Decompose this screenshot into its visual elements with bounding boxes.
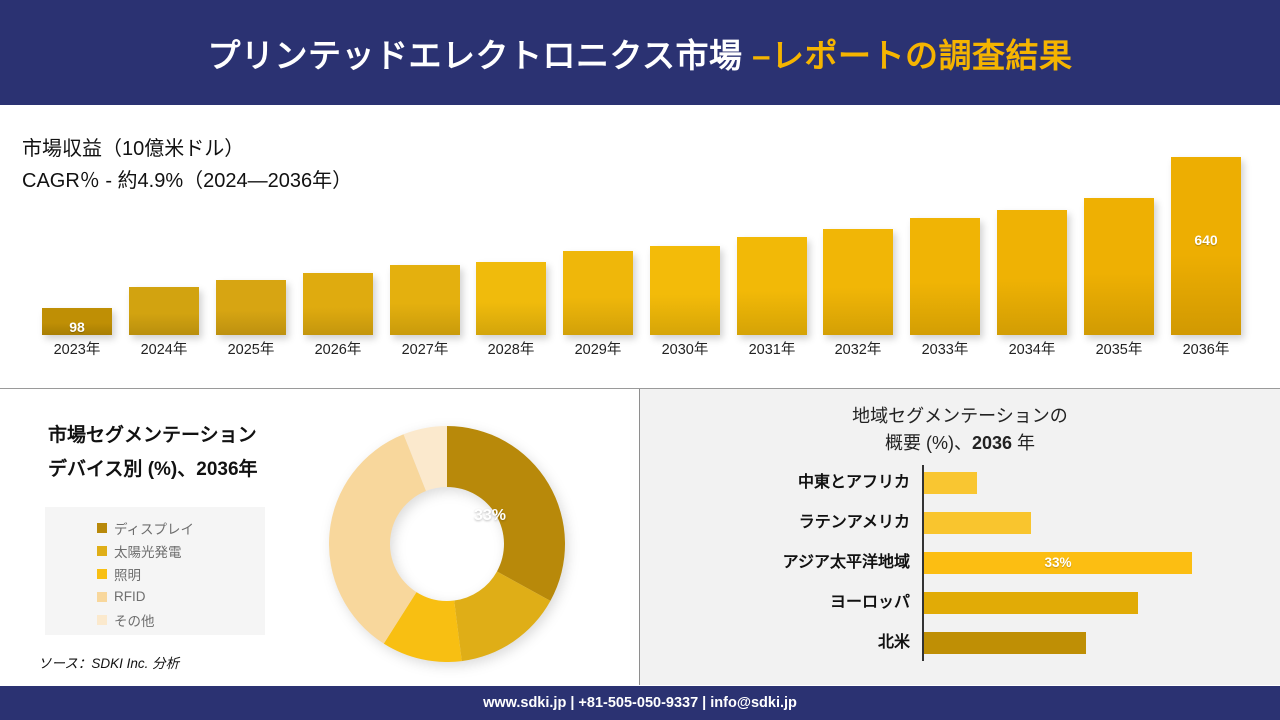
bar-column	[216, 130, 286, 335]
region-bar-row: 北米	[640, 632, 1280, 654]
region-title-prefix: 概要 (%)、	[885, 433, 972, 453]
legend-item[interactable]: RFID	[97, 585, 265, 608]
legend-item-label: 太陽光発電	[114, 541, 182, 561]
bar-column	[823, 130, 893, 335]
legend-item-label: ディスプレイ	[114, 518, 194, 538]
legend-swatch-icon	[97, 546, 107, 556]
bar-column: 98	[42, 130, 112, 335]
legend-swatch-icon	[97, 592, 107, 602]
region-bar[interactable]	[924, 472, 977, 494]
bar-column	[303, 130, 373, 335]
region-bar[interactable]	[924, 512, 1031, 534]
donut-chart-svg	[322, 419, 572, 669]
bar-chart-x-axis-labels: 2023年2024年2025年2026年2027年2028年2029年2030年…	[34, 338, 1249, 366]
legend-item[interactable]: 太陽光発電	[97, 539, 265, 562]
bar-column: 640	[1171, 130, 1241, 335]
x-axis-tick-label: 2035年	[1076, 338, 1162, 359]
revenue-bar	[1084, 198, 1154, 335]
revenue-bar	[650, 246, 720, 335]
donut-primary-value: 33%	[474, 507, 506, 525]
x-axis-tick-label: 2033年	[902, 338, 988, 359]
infographic-page: プリンテッドエレクトロニクス市場 –レポートの調査結果 市場収益（10億米ドル）…	[0, 0, 1280, 720]
x-axis-tick-label: 2026年	[295, 338, 381, 359]
x-axis-tick-label: 2030年	[642, 338, 728, 359]
region-title-suffix: 年	[1012, 433, 1035, 453]
segmentation-title-line1: 市場セグメンテーション	[48, 419, 258, 453]
segmentation-title-line2: デバイス別 (%)、2036年	[48, 453, 258, 487]
region-title: 地域セグメンテーションの 概要 (%)、2036 年	[640, 403, 1280, 457]
region-bar-row: 中東とアフリカ	[640, 472, 1280, 494]
bar-column	[390, 130, 460, 335]
bar-chart-plot-area: 98640	[34, 130, 1249, 335]
region-bar[interactable]	[924, 592, 1138, 614]
page-title: プリンテッドエレクトロニクス市場 –レポートの調査結果	[207, 29, 1072, 77]
legend-item-label: 照明	[114, 564, 141, 584]
revenue-bar	[129, 287, 199, 335]
x-axis-tick-label: 2025年	[208, 338, 294, 359]
market-revenue-bar-chart: 98640 2023年2024年2025年2026年2027年2028年2029…	[34, 130, 1249, 370]
x-axis-tick-label: 2029年	[555, 338, 641, 359]
page-title-main: プリンテッドエレクトロニクス市場	[207, 37, 742, 74]
x-axis-tick-label: 2027年	[382, 338, 468, 359]
region-label: ヨーロッパ	[670, 592, 910, 614]
region-label: アジア太平洋地域	[670, 552, 910, 574]
x-axis-tick-label: 2032年	[815, 338, 901, 359]
bar-column	[1084, 130, 1154, 335]
legend-item[interactable]: ディスプレイ	[97, 516, 265, 539]
bar-column	[129, 130, 199, 335]
legend-item[interactable]: その他	[97, 608, 265, 631]
device-segmentation-panel: 市場セグメンテーション デバイス別 (%)、2036年 ディスプレイ太陽光発電照…	[0, 389, 639, 685]
bar-value-label: 640	[1171, 232, 1241, 248]
revenue-bar	[737, 237, 807, 335]
revenue-bar	[303, 273, 373, 335]
x-axis-tick-label: 2034年	[989, 338, 1075, 359]
footer-contact-text: www.sdki.jp | +81-505-050-9337 | info@sd…	[483, 695, 797, 711]
x-axis-tick-label: 2024年	[121, 338, 207, 359]
revenue-bar	[216, 280, 286, 335]
region-title-line2: 概要 (%)、2036 年	[640, 430, 1280, 457]
donut-legend: ディスプレイ太陽光発電照明RFIDその他	[45, 507, 265, 635]
legend-swatch-icon	[97, 569, 107, 579]
region-label: 中東とアフリカ	[670, 472, 910, 494]
region-label: ラテンアメリカ	[670, 512, 910, 534]
legend-swatch-icon	[97, 523, 107, 533]
segmentation-title: 市場セグメンテーション デバイス別 (%)、2036年	[48, 419, 258, 487]
header-banner: プリンテッドエレクトロニクス市場 –レポートの調査結果	[0, 0, 1280, 105]
revenue-bar	[823, 229, 893, 335]
legend-item-label: その他	[114, 610, 155, 630]
region-bar-row: ラテンアメリカ	[640, 512, 1280, 534]
region-bar-row: アジア太平洋地域33%	[640, 552, 1280, 574]
source-note: ソース：SDKI Inc. 分析	[38, 652, 179, 672]
donut-chart: 33%	[322, 419, 572, 669]
bar-column	[650, 130, 720, 335]
revenue-bar	[997, 210, 1067, 335]
x-axis-tick-label: 2031年	[729, 338, 815, 359]
bar-column	[910, 130, 980, 335]
revenue-bar	[390, 265, 460, 335]
legend-item-label: RFID	[114, 589, 146, 604]
region-bar-value-label: 33%	[924, 552, 1192, 574]
bar-value-label: 98	[42, 319, 112, 335]
region-title-line1: 地域セグメンテーションの	[640, 403, 1280, 430]
revenue-bar	[910, 218, 980, 335]
revenue-bar	[563, 251, 633, 335]
page-title-accent: –レポートの調査結果	[752, 37, 1072, 74]
revenue-bar	[476, 262, 546, 335]
bar-column	[737, 130, 807, 335]
footer-banner: www.sdki.jp | +81-505-050-9337 | info@sd…	[0, 686, 1280, 720]
revenue-bar: 98	[42, 308, 112, 335]
x-axis-tick-label: 2028年	[468, 338, 554, 359]
region-bar[interactable]	[924, 632, 1086, 654]
region-label: 北米	[670, 632, 910, 654]
bar-column	[563, 130, 633, 335]
bar-column	[476, 130, 546, 335]
bar-column	[997, 130, 1067, 335]
x-axis-tick-label: 2023年	[34, 338, 120, 359]
region-title-year: 2036	[972, 433, 1012, 453]
legend-item[interactable]: 照明	[97, 562, 265, 585]
region-bar[interactable]: 33%	[924, 552, 1192, 574]
region-bar-row: ヨーロッパ	[640, 592, 1280, 614]
legend-swatch-icon	[97, 615, 107, 625]
x-axis-tick-label: 2036年	[1163, 338, 1249, 359]
revenue-bar: 640	[1171, 157, 1241, 335]
regional-segmentation-panel: 地域セグメンテーションの 概要 (%)、2036 年 中東とアフリカラテンアメリ…	[640, 389, 1280, 685]
